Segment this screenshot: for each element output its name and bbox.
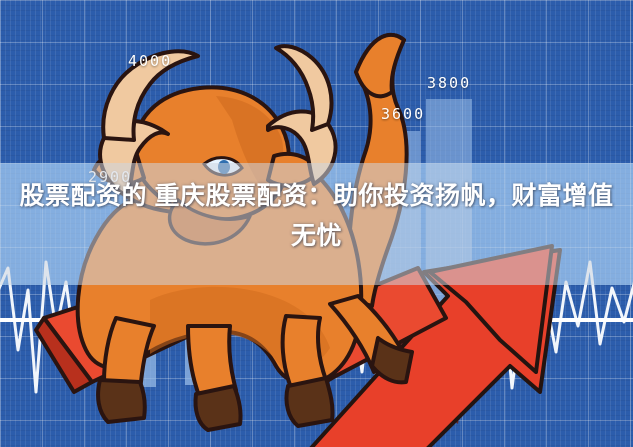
stock-financing-banner: 4000 2900 3600 3800 股票配资的 重庆股票配资：助你投资扬帆，… (0, 0, 633, 447)
axis-label-3600: 3600 (381, 105, 425, 123)
headline-line-2: 无忧 (6, 216, 627, 256)
headline-line-1: 股票配资的 重庆股票配资：助你投资扬帆，财富增值 (6, 176, 627, 216)
axis-label-4000: 4000 (128, 52, 172, 70)
headline-block: 股票配资的 重庆股票配资：助你投资扬帆，财富增值 无忧 (0, 176, 633, 256)
axis-label-3800: 3800 (427, 74, 471, 92)
